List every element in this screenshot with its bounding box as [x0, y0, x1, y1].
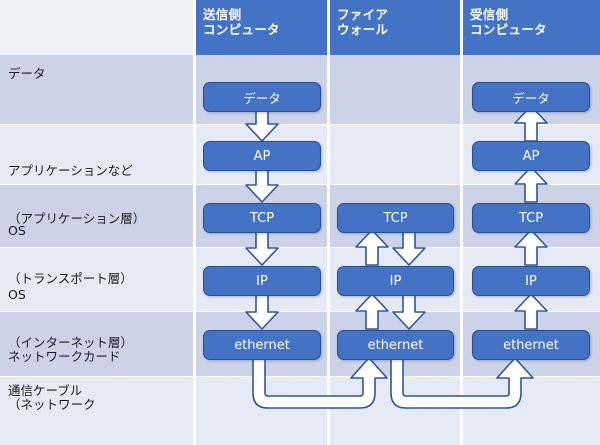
column-header-sender: 送信側 コンピュータ: [196, 0, 327, 55]
header-line-1: 送信側: [203, 7, 327, 22]
row-label-line-1: OS: [8, 223, 133, 239]
box-sender-ethernet[interactable]: ethernet: [203, 330, 321, 360]
arrow-up-ethernet-to-ip-icon: [355, 294, 389, 330]
row-label-cable: 通信ケーブル: [8, 383, 82, 399]
column-header-firewall: ファイア ウォール: [330, 0, 460, 55]
arrow-down-tcp-to-ip-icon: [245, 230, 279, 266]
header-line-2: ウォール: [337, 22, 460, 37]
box-sender-ip[interactable]: IP: [203, 266, 321, 296]
box-firewall-ethernet[interactable]: ethernet: [337, 330, 454, 360]
header-line-1: ファイア: [337, 7, 460, 22]
arrow-down-ap-to-tcp-icon: [245, 167, 279, 203]
header-line-2: コンピュータ: [470, 22, 600, 37]
row-label-nic: ネットワークカード （ネットワーク インタフェース層）: [8, 317, 121, 445]
box-receiver-tcp[interactable]: TCP: [472, 203, 590, 233]
arrow-up-ethernet-to-ip-icon: [514, 294, 548, 330]
header-line-2: コンピュータ: [203, 22, 327, 37]
row-divider: [0, 124, 600, 125]
box-receiver-data[interactable]: データ: [472, 82, 590, 112]
box-receiver-ip[interactable]: IP: [472, 266, 590, 296]
row-label-line-1: アプリケーションなど: [8, 163, 145, 179]
box-firewall-tcp[interactable]: TCP: [337, 203, 454, 233]
row-label-line-1: OS: [8, 287, 133, 303]
header-line-1: 受信側: [470, 7, 600, 22]
diagram-canvas: 送信側 コンピュータ ファイア ウォール 受信側 コンピュータ データ アプリケ…: [0, 0, 600, 445]
arrow-down-ip-to-ethernet-icon: [392, 294, 426, 330]
box-sender-data[interactable]: データ: [203, 82, 321, 112]
box-sender-tcp[interactable]: TCP: [203, 203, 321, 233]
cable-firewall-to-receiver-icon: [378, 355, 553, 435]
column-header-receiver: 受信側 コンピュータ: [463, 0, 600, 55]
box-receiver-ethernet[interactable]: ethernet: [472, 330, 590, 360]
row-label-line-1: ネットワークカード: [8, 349, 121, 365]
row-label-data: データ: [8, 66, 46, 82]
arrow-down-ip-to-ethernet-icon: [245, 294, 279, 330]
box-firewall-ip[interactable]: IP: [337, 266, 454, 296]
arrow-up-ip-to-tcp-icon: [355, 230, 389, 266]
arrow-up-ip-to-tcp-icon: [514, 230, 548, 266]
arrow-down-tcp-to-ip-icon: [392, 230, 426, 266]
arrow-up-tcp-to-ap-icon: [514, 167, 548, 203]
column-separator: [193, 0, 196, 445]
box-sender-ap[interactable]: AP: [203, 141, 321, 171]
row-label-line-2: （ネットワーク: [8, 397, 121, 413]
box-receiver-ap[interactable]: AP: [472, 141, 590, 171]
